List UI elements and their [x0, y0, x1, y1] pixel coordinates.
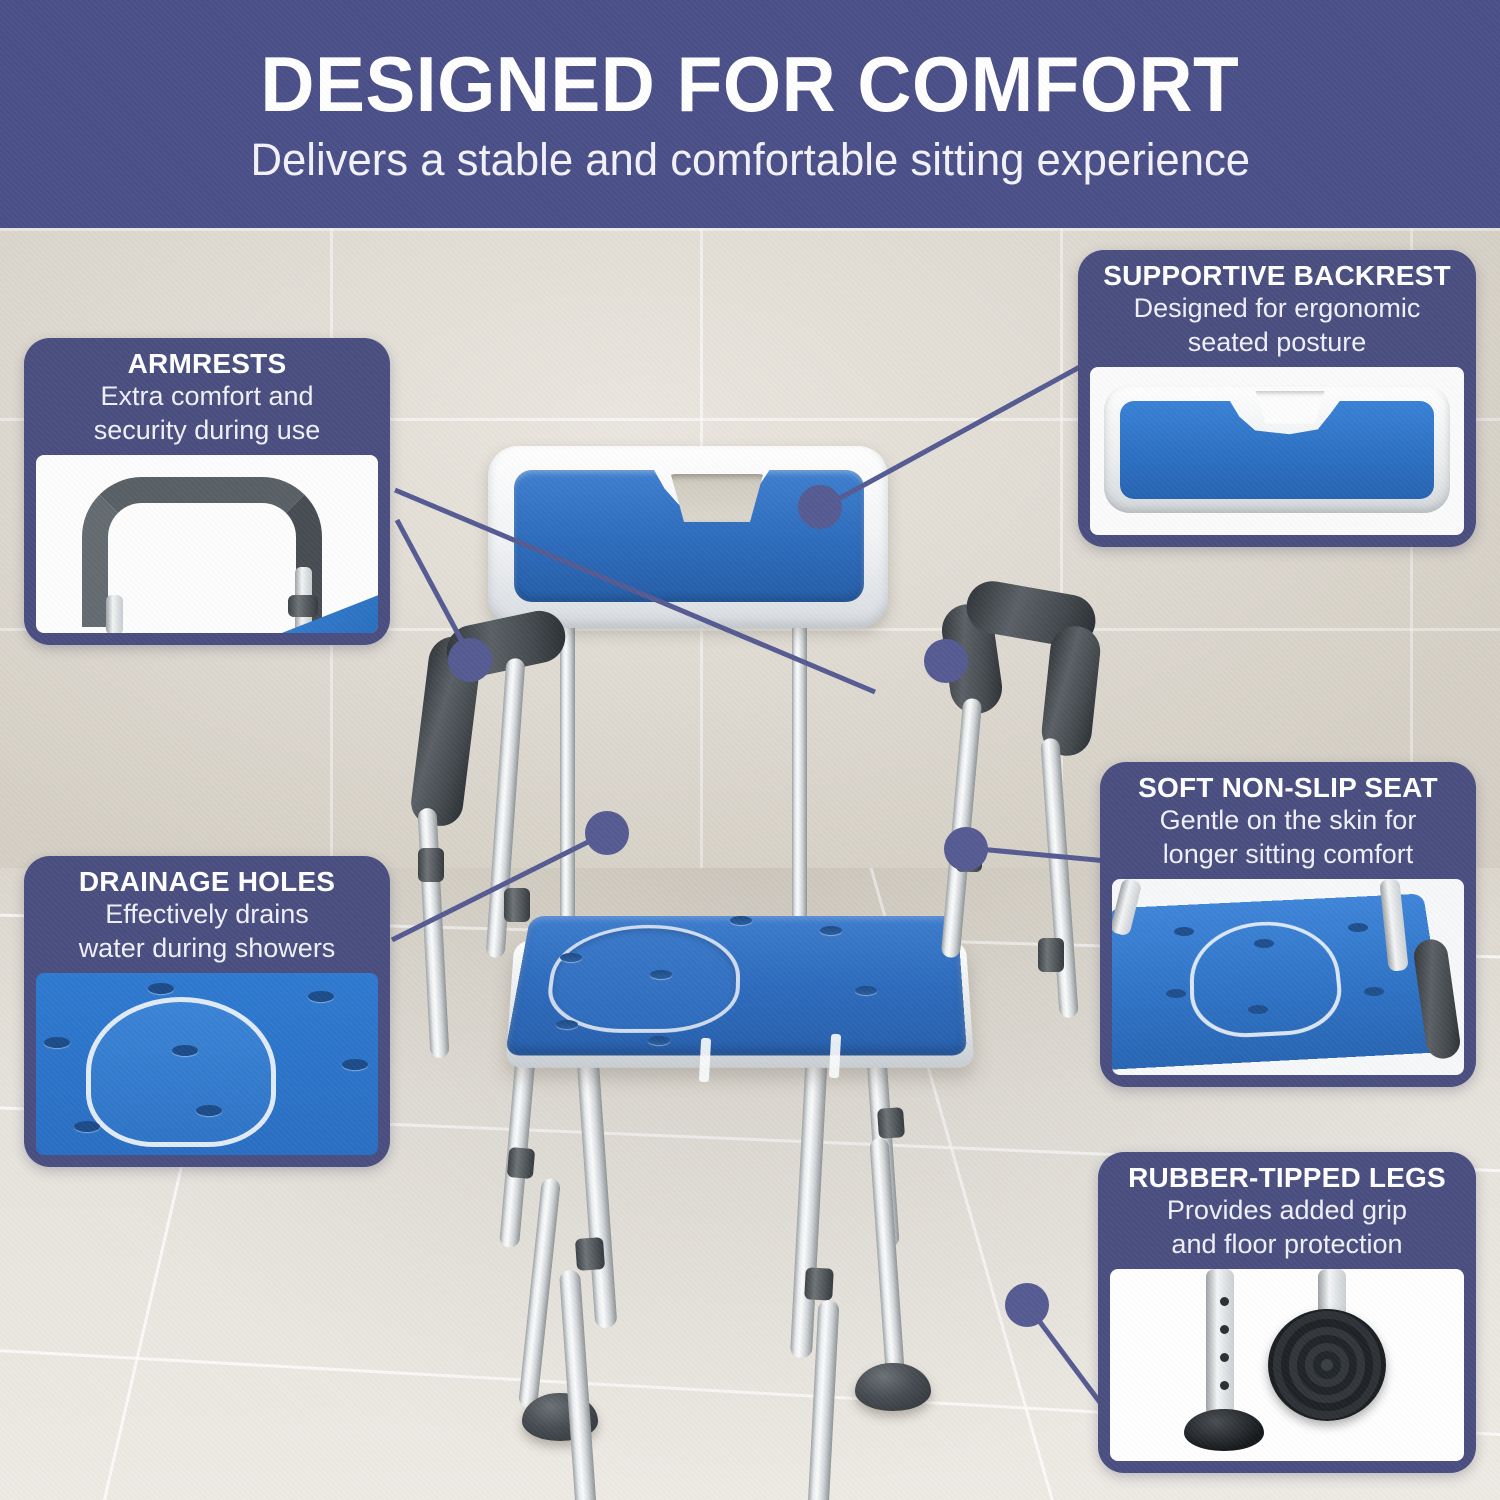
seat-split-gap	[699, 1038, 711, 1082]
drainage-hole	[650, 970, 672, 979]
callout-desc-legs-line1: Provides added grip	[1110, 1195, 1464, 1226]
callout-title-seat: SOFT NON-SLIP SEAT	[1112, 772, 1464, 803]
front-leg-right-collar	[804, 1267, 834, 1300]
armrest-closeup-photo	[36, 455, 378, 633]
drainage-holes-closeup-photo	[36, 973, 378, 1155]
backrest	[488, 446, 888, 628]
callout-title-legs: RUBBER-TIPPED LEGS	[1110, 1162, 1464, 1193]
callout-card-supportive-backrest[interactable]: SUPPORTIVE BACKREST Designed for ergonom…	[1078, 250, 1476, 547]
callout-card-drainage-holes[interactable]: DRAINAGE HOLES Effectively drains water …	[24, 856, 390, 1167]
backrest-closeup-photo	[1090, 367, 1464, 535]
callout-title-armrests: ARMRESTS	[36, 348, 378, 379]
callout-card-soft-non-slip-seat[interactable]: SOFT NON-SLIP SEAT Gentle on the skin fo…	[1100, 762, 1476, 1087]
armrest-right-collar	[956, 838, 982, 872]
seat-closeup-photo	[1112, 879, 1464, 1075]
front-leg-left	[575, 1028, 618, 1329]
armrest-right-post-rear	[941, 698, 983, 959]
backrest-post-right	[792, 618, 807, 948]
armrest-left-collar	[418, 848, 444, 882]
armrest-right-post-front	[1040, 738, 1078, 1019]
rear-leg-left-lower	[518, 1178, 561, 1409]
front-leg-left-collar	[575, 1237, 605, 1271]
page-title: DESIGNED FOR COMFORT	[261, 45, 1240, 125]
drainage-hole	[648, 1036, 670, 1045]
callout-title-backrest: SUPPORTIVE BACKREST	[1090, 260, 1464, 291]
rubber-foot-rear-right	[855, 1363, 931, 1411]
rear-leg-left-collar	[507, 1147, 536, 1179]
callout-desc-backrest-line1: Designed for ergonomic	[1090, 293, 1464, 324]
callout-desc-armrests-line1: Extra comfort and	[36, 381, 378, 412]
callout-desc-armrests-line2: security during use	[36, 415, 378, 446]
armrest-right-collar-lower	[1038, 938, 1064, 972]
backrest-post-left	[560, 618, 575, 948]
callout-desc-seat-line1: Gentle on the skin for	[1112, 805, 1464, 836]
header-banner: DESIGNED FOR COMFORT Delivers a stable a…	[0, 0, 1500, 228]
callout-desc-seat-line2: longer sitting comfort	[1112, 839, 1464, 870]
rubber-feet-closeup-photo	[1110, 1269, 1464, 1461]
shower-chair	[400, 408, 1100, 1468]
callout-desc-drainage-line2: water during showers	[36, 933, 378, 964]
callout-title-drainage: DRAINAGE HOLES	[36, 866, 378, 897]
callout-desc-backrest-line2: seated posture	[1090, 327, 1464, 358]
callout-card-rubber-tipped-legs[interactable]: RUBBER-TIPPED LEGS Provides added grip a…	[1098, 1152, 1476, 1473]
drainage-hole	[855, 986, 877, 995]
rear-leg-right-collar	[877, 1107, 905, 1139]
drainage-hole	[820, 926, 842, 935]
rear-leg-right-lower	[869, 1138, 905, 1389]
drainage-hole	[560, 953, 582, 962]
front-leg-left-lower	[559, 1270, 598, 1500]
callout-desc-drainage-line1: Effectively drains	[36, 899, 378, 930]
callout-card-armrests[interactable]: ARMRESTS Extra comfort and security duri…	[24, 338, 390, 645]
drainage-hole	[730, 916, 752, 925]
drainage-hole	[556, 1020, 578, 1029]
callout-desc-legs-line2: and floor protection	[1110, 1229, 1464, 1260]
armrest-left-post-front	[417, 808, 449, 1059]
armrest-left-collar-lower	[504, 888, 530, 922]
page-subtitle: Delivers a stable and comfortable sittin…	[250, 136, 1250, 183]
seat-split-gap	[829, 1034, 841, 1078]
